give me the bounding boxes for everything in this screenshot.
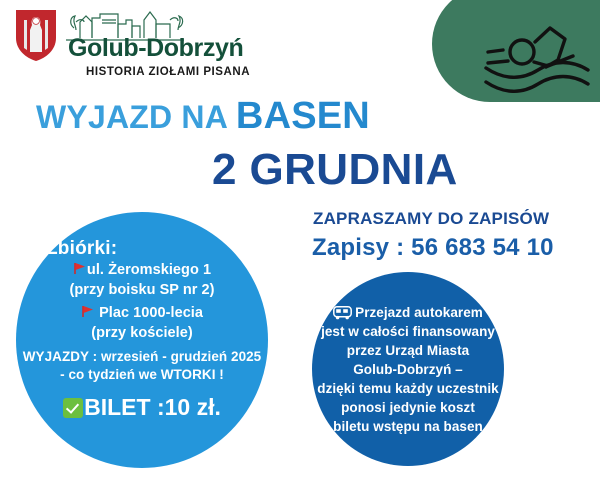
funding-line-3: przez Urząd Miasta [312, 343, 504, 358]
red-flag-icon [81, 305, 94, 318]
funding-line-5: dzięki temu każdy uczestnik [312, 381, 504, 396]
meeting-title: Zbiórki: [46, 238, 117, 260]
headline-primary: WYJAZD NA BASEN [36, 95, 370, 138]
funding-content: Przejazd autokarem jest w całości finans… [312, 272, 504, 466]
swimmer-icon [478, 12, 594, 94]
funding-line-1: Przejazd autokarem [312, 305, 504, 320]
signup-phone: Zapisy : 56 683 54 10 [312, 234, 554, 262]
swimming-trip-poster: Golub-Dobrzyń HISTORIA ZIOŁAMI PISANA WY… [0, 0, 600, 503]
headline-emphasis: BASEN [236, 95, 370, 137]
green-check-icon [63, 398, 83, 418]
headline-prefix: WYJAZD NA [36, 99, 236, 135]
meeting-address-2: Plac 1000-lecia [99, 305, 203, 321]
red-flag-icon [73, 262, 86, 275]
meeting-frequency: - co tydzień we WTORKI ! [16, 367, 268, 382]
funding-line-7: biletu wstępu na basen [312, 419, 504, 434]
city-tagline: HISTORIA ZIOŁAMI PISANA [86, 66, 250, 78]
ticket-price-row: BILET :10 zł. [16, 394, 268, 421]
city-name: Golub-Dobrzyń [68, 34, 243, 63]
meeting-line-4: (przy kościele) [16, 325, 268, 341]
funding-line-2: jest w całości finansowany [312, 324, 504, 339]
meeting-address-1: ul. Żeromskiego 1 [87, 262, 211, 278]
bus-icon [333, 306, 352, 320]
funding-line-6: ponosi jedynie koszt [312, 400, 504, 415]
meeting-points-content: Zbiórki: ul. Żeromskiego 1 (przy boisku … [16, 212, 268, 468]
ticket-price-label: BILET :10 zł. [84, 394, 221, 420]
headline-date: 2 GRUDNIA [212, 145, 458, 195]
signup-invite: ZAPRASZAMY DO ZAPISÓW [313, 209, 549, 229]
funding-text-1: Przejazd autokarem [355, 305, 483, 320]
coat-of-arms-shield-icon [14, 8, 58, 62]
meeting-schedule: WYJAZDY : wrzesień - grudzień 2025 [16, 349, 268, 364]
funding-line-4: Golub-Dobrzyń – [312, 362, 504, 377]
meeting-line-3: Plac 1000-lecia [16, 305, 268, 321]
meeting-line-1: ul. Żeromskiego 1 [16, 262, 268, 278]
meeting-line-2: (przy boisku SP nr 2) [16, 282, 268, 298]
